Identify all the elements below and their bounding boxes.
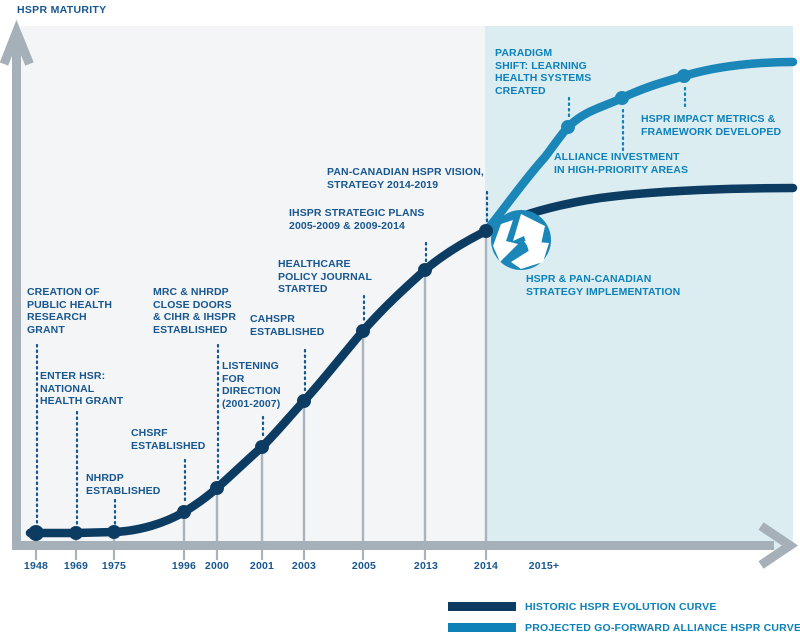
annotation-paradigm-shift-learning-health-systems: PARADIGM SHIFT: LEARNING HEALTH SYSTEMS … xyxy=(495,47,591,97)
data-point xyxy=(356,324,370,338)
data-point xyxy=(561,120,575,134)
x-tick-1996: 1996 xyxy=(172,560,196,572)
annotation-hspr-impact-metrics-framework: HSPR IMPACT METRICS & FRAMEWORK DEVELOPE… xyxy=(641,113,781,138)
annotation-hspr-pan-canadian-strategy-implementation: HSPR & PAN-CANADIAN STRATEGY IMPLEMENTAT… xyxy=(526,273,680,298)
annotation-mrc-nhrdp-close-doors: MRC & NHRDP CLOSE DOORS & CIHR & IHSPR E… xyxy=(153,286,236,336)
chart-legend: HISTORIC HSPR EVOLUTION CURVE PROJECTED … xyxy=(448,598,800,640)
data-point xyxy=(210,481,224,495)
annotation-enter-hsr-national-health-grant: ENTER HSR: NATIONAL HEALTH GRANT xyxy=(40,370,123,408)
annotation-ihspr-strategic-plans: IHSPR STRATEGIC PLANS 2005-2009 & 2009-2… xyxy=(289,207,425,232)
x-tick-2003: 2003 xyxy=(292,560,316,572)
legend-swatch-projected xyxy=(448,623,516,632)
legend-label-historic: HISTORIC HSPR EVOLUTION CURVE xyxy=(525,601,717,613)
x-tick-2001: 2001 xyxy=(250,560,274,572)
x-tick-2013: 2013 xyxy=(414,560,438,572)
x-tick-2000: 2000 xyxy=(205,560,229,572)
annotation-creation-public-health-research-grant: CREATION OF PUBLIC HEALTH RESEARCH GRANT xyxy=(27,286,112,336)
x-tick-1975: 1975 xyxy=(102,560,126,572)
x-tick-2014: 2014 xyxy=(474,560,498,572)
data-point xyxy=(107,525,121,539)
annotation-nhrdp-established: NHRDP ESTABLISHED xyxy=(86,472,160,497)
legend-swatch-historic xyxy=(448,602,516,611)
data-point xyxy=(479,224,493,238)
data-point xyxy=(297,394,311,408)
hspr-maturity-chart: HSPR MATURITY 1948 1969 1975 1996 2000 2… xyxy=(0,0,800,641)
x-tick-2005: 2005 xyxy=(352,560,376,572)
annotation-chsrf-established: CHSRF ESTABLISHED xyxy=(131,427,205,452)
x-tick-1969: 1969 xyxy=(64,560,88,572)
y-axis-title: HSPR MATURITY xyxy=(17,4,106,16)
legend-item-historic: HISTORIC HSPR EVOLUTION CURVE xyxy=(448,598,800,615)
data-point xyxy=(177,505,191,519)
legend-item-projected: PROJECTED GO-FORWARD ALLIANCE HSPR CURVE xyxy=(448,619,800,636)
annotation-listening-for-direction: LISTENING FOR DIRECTION (2001-2007) xyxy=(222,360,281,410)
chart-canvas xyxy=(0,0,800,641)
axis-ticks xyxy=(36,550,486,560)
data-point xyxy=(28,525,44,541)
annotation-pan-canadian-hspr-vision: PAN-CANADIAN HSPR VISION, STRATEGY 2014-… xyxy=(327,166,484,191)
x-tick-1948: 1948 xyxy=(24,560,48,572)
data-point xyxy=(69,526,83,540)
legend-label-projected: PROJECTED GO-FORWARD ALLIANCE HSPR CURVE xyxy=(525,622,800,634)
data-point xyxy=(418,263,432,277)
annotation-cahspr-established: CAHSPR ESTABLISHED xyxy=(250,313,324,338)
data-point xyxy=(615,91,629,105)
annotation-alliance-investment-high-priority-areas: ALLIANCE INVESTMENT IN HIGH-PRIORITY ARE… xyxy=(554,151,688,176)
pinwheel-swirl-icon xyxy=(491,210,551,270)
data-point xyxy=(255,440,269,454)
annotation-healthcare-policy-journal-started: HEALTHCARE POLICY JOURNAL STARTED xyxy=(278,258,372,296)
x-tick-2015plus: 2015+ xyxy=(529,560,560,572)
data-point xyxy=(677,69,691,83)
